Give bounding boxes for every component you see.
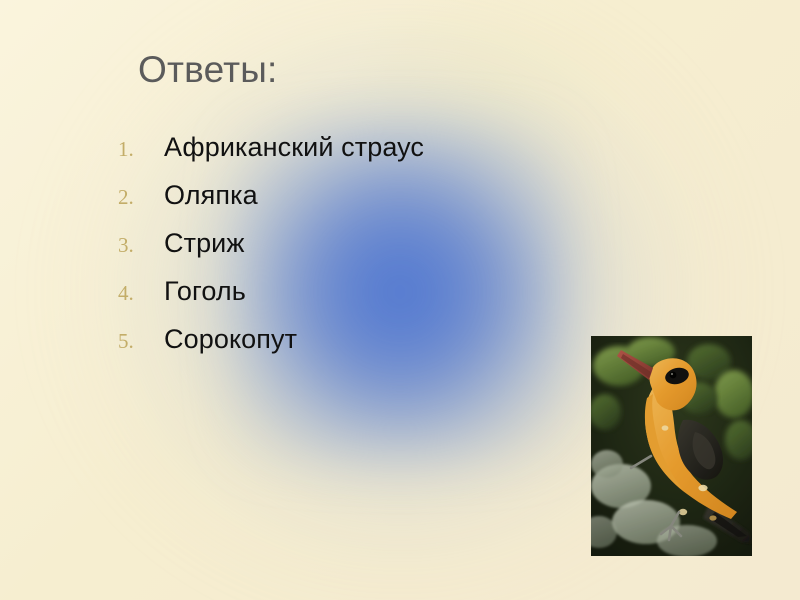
- list-item: 5. Сорокопут: [118, 326, 578, 374]
- list-item: 3. Стриж: [118, 230, 578, 278]
- list-item-label: Оляпка: [164, 182, 258, 209]
- answer-list: 1. Африканский страус 2. Оляпка 3. Стриж…: [118, 134, 578, 374]
- list-item-number: 4.: [118, 281, 164, 306]
- list-item-number: 2.: [118, 185, 164, 210]
- presentation-slide: Ответы: 1. Африканский страус 2. Оляпка …: [0, 0, 800, 600]
- slide-title: Ответы:: [138, 50, 278, 91]
- bird-photo-illustration: [591, 336, 752, 556]
- list-item-number: 1.: [118, 137, 164, 162]
- list-item-label: Африканский страус: [164, 134, 424, 161]
- list-item: 4. Гоголь: [118, 278, 578, 326]
- bird-photo: [591, 336, 752, 556]
- list-item-number: 5.: [118, 329, 164, 354]
- list-item: 1. Африканский страус: [118, 134, 578, 182]
- list-item-label: Стриж: [164, 230, 245, 257]
- list-item-number: 3.: [118, 233, 164, 258]
- list-item-label: Сорокопут: [164, 326, 297, 353]
- list-item-label: Гоголь: [164, 278, 246, 305]
- list-item: 2. Оляпка: [118, 182, 578, 230]
